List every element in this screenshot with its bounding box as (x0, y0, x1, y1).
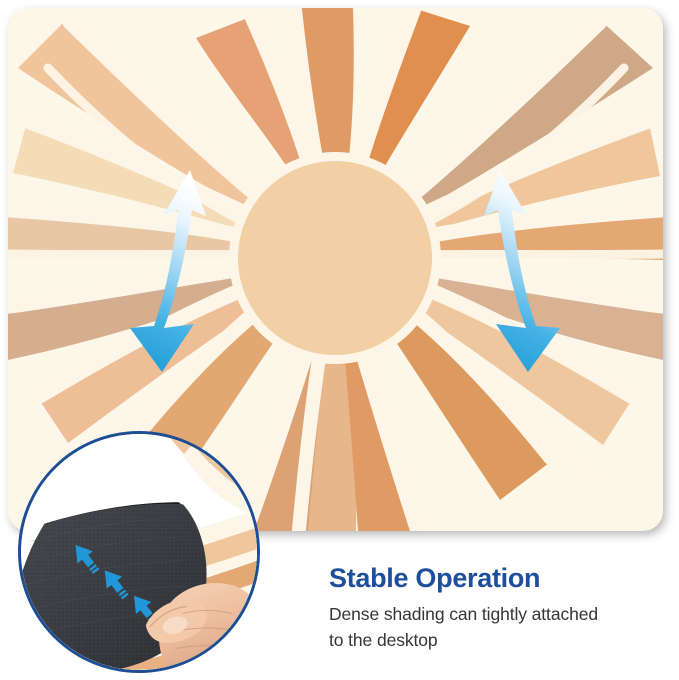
product-image-canvas: Stable Operation Dense shading can tight… (0, 0, 679, 680)
caption-body-line-2: to the desktop (329, 627, 669, 653)
caption-body: Dense shading can tightly attached to th… (329, 601, 669, 653)
base-closeup-illustration (21, 434, 257, 670)
non-slip-base-inset (18, 431, 260, 673)
caption-title: Stable Operation (329, 562, 669, 594)
feature-caption: Stable Operation Dense shading can tight… (329, 562, 669, 653)
caption-body-line-1: Dense shading can tightly attached (329, 601, 669, 627)
